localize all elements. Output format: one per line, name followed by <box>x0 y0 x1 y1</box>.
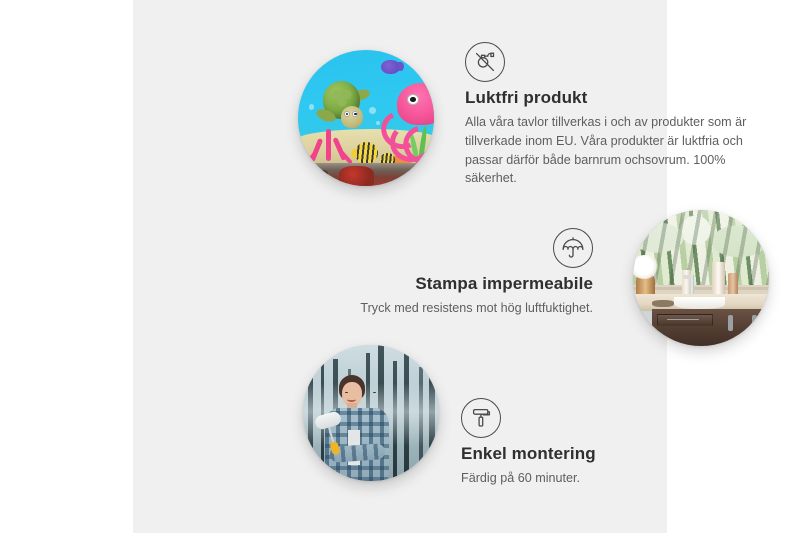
image-bathroom-interior-scene[interactable] <box>633 210 769 346</box>
feature-waterproof: Stampa impermeabile Tryck med resistens … <box>329 228 593 318</box>
feature-title: Enkel montering <box>461 444 731 464</box>
tray-icon <box>652 300 674 307</box>
ocean-scene <box>298 50 434 186</box>
umbrella-icon <box>553 228 593 268</box>
bubble-icon <box>369 107 376 114</box>
image-underwater-cartoon-scene[interactable] <box>298 50 434 186</box>
door-handle <box>752 315 757 331</box>
sink-basin <box>674 297 726 309</box>
feature-title: Stampa impermeabile <box>329 274 593 294</box>
paint-roller-icon <box>461 398 501 438</box>
image-woman-with-paint-roller-scene[interactable] <box>303 345 439 481</box>
feature-odourless: Luktfri produkt Alla våra tavlor tillver… <box>465 42 757 188</box>
bathroom-scene <box>633 210 769 346</box>
woman-figure <box>322 375 398 481</box>
door-handle <box>728 315 733 331</box>
feature-easy-install: Enkel montering Färdig på 60 minuter. <box>461 398 731 488</box>
vanity-cabinet <box>652 309 769 346</box>
ocean-foreground-strip <box>298 163 434 186</box>
feature-description: Tryck med resistens mot hög luftfuktighe… <box>329 299 593 318</box>
drawer-handle <box>667 319 699 320</box>
feature-description: Alla våra tavlor tillverkas i och av pro… <box>465 113 757 188</box>
content-panel: Luktfri produkt Alla våra tavlor tillver… <box>133 0 667 533</box>
feature-title: Luktfri produkt <box>465 88 757 108</box>
screenshot-root: Luktfri produkt Alla våra tavlor tillver… <box>0 0 800 533</box>
no-odour-spray-bottle-icon <box>465 42 505 82</box>
feature-description: Färdig på 60 minuter. <box>461 469 731 488</box>
forest-person-scene <box>303 345 439 481</box>
octopus-icon <box>380 83 434 154</box>
bubble-icon <box>309 104 314 109</box>
